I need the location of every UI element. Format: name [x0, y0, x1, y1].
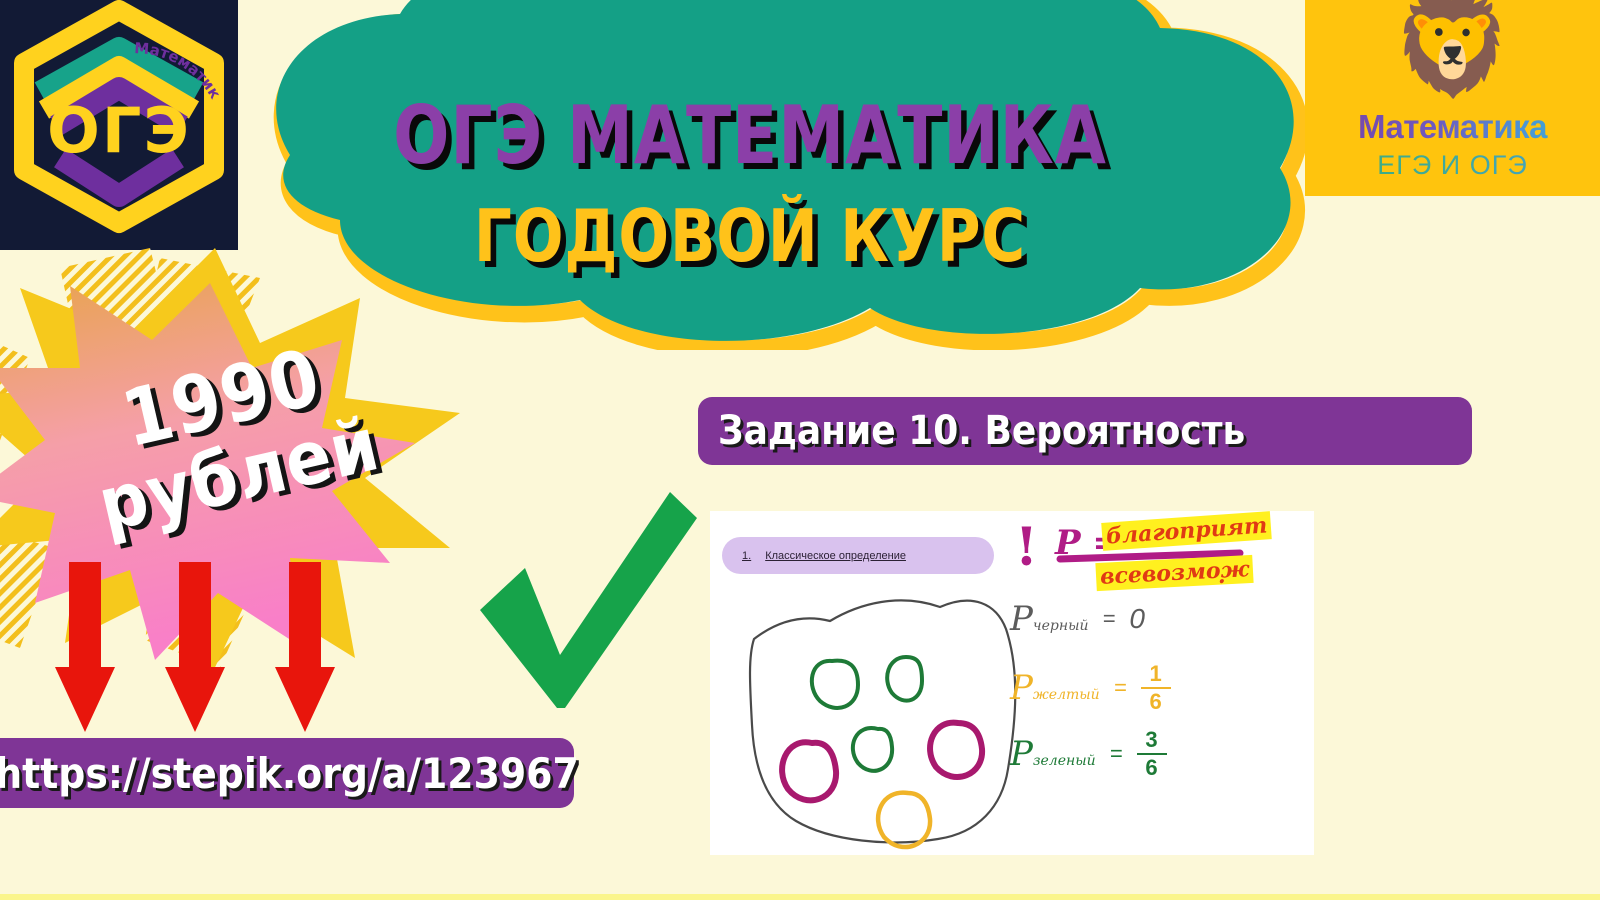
whiteboard-panel: 1. Классическое определение: [710, 511, 1314, 855]
probability-row: Pчерный = 0: [1010, 599, 1145, 639]
ball-green: [853, 728, 892, 771]
probability-fraction: 3 6: [1137, 729, 1167, 779]
probability-row: Pжелтый = 1 6: [1010, 663, 1171, 713]
ball-magenta: [930, 723, 982, 777]
probability-value: 0: [1129, 603, 1145, 635]
probability-equals: =: [1096, 741, 1137, 767]
lion-banner-subtitle: ЕГЭ И ОГЭ: [1305, 150, 1600, 181]
down-arrows-group: [55, 562, 355, 737]
probability-subscript: зеленый: [1033, 753, 1096, 769]
ball-magenta: [782, 742, 836, 800]
probability-subscript: желтый: [1033, 687, 1100, 703]
task-title-text: Задание 10. Вероятность: [698, 408, 1245, 454]
stepik-url-text: https://stepik.org/a/123967: [0, 749, 579, 798]
ball-green: [812, 661, 858, 708]
probability-symbol: P: [1010, 599, 1033, 639]
oge-logo: ОГЭ Математика: [0, 0, 238, 250]
probability-equals: =: [1100, 675, 1141, 701]
oge-badge-text: ОГЭ: [47, 94, 191, 167]
probability-row: Pзеленый = 3 6: [1010, 729, 1167, 779]
lion-banner-title: Математика: [1305, 108, 1600, 146]
ball-green: [887, 657, 922, 701]
fraction-denominator: 6: [1149, 691, 1161, 713]
fraction-denominator: 6: [1145, 757, 1157, 779]
down-arrow-icon: [275, 562, 335, 732]
stepik-url-badge[interactable]: https://stepik.org/a/123967: [0, 738, 574, 808]
probability-equals: =: [1089, 606, 1130, 632]
fraction-numerator: 1: [1149, 663, 1161, 685]
down-arrow-icon: [55, 562, 115, 732]
ball-yellow: [878, 793, 930, 847]
probability-symbol: P: [1010, 668, 1033, 708]
probability-subscript: черный: [1033, 618, 1089, 634]
task-title-badge: Задание 10. Вероятность: [698, 397, 1472, 465]
fraction-numerator: 3: [1145, 729, 1157, 751]
poster-canvas: ОГЭ МАТЕМАТИКА ГОДОВОЙ КУРС ОГЭ Математи…: [0, 0, 1600, 900]
lion-banner: 🦁 Математика ЕГЭ И ОГЭ: [1305, 0, 1600, 196]
probability-symbol: P: [1010, 734, 1033, 774]
check-icon: [465, 470, 700, 710]
bottom-strip: [0, 894, 1600, 900]
lion-face-icon: 🦁: [1391, 0, 1513, 94]
down-arrow-icon: [165, 562, 225, 732]
probability-fraction: 1 6: [1141, 663, 1171, 713]
